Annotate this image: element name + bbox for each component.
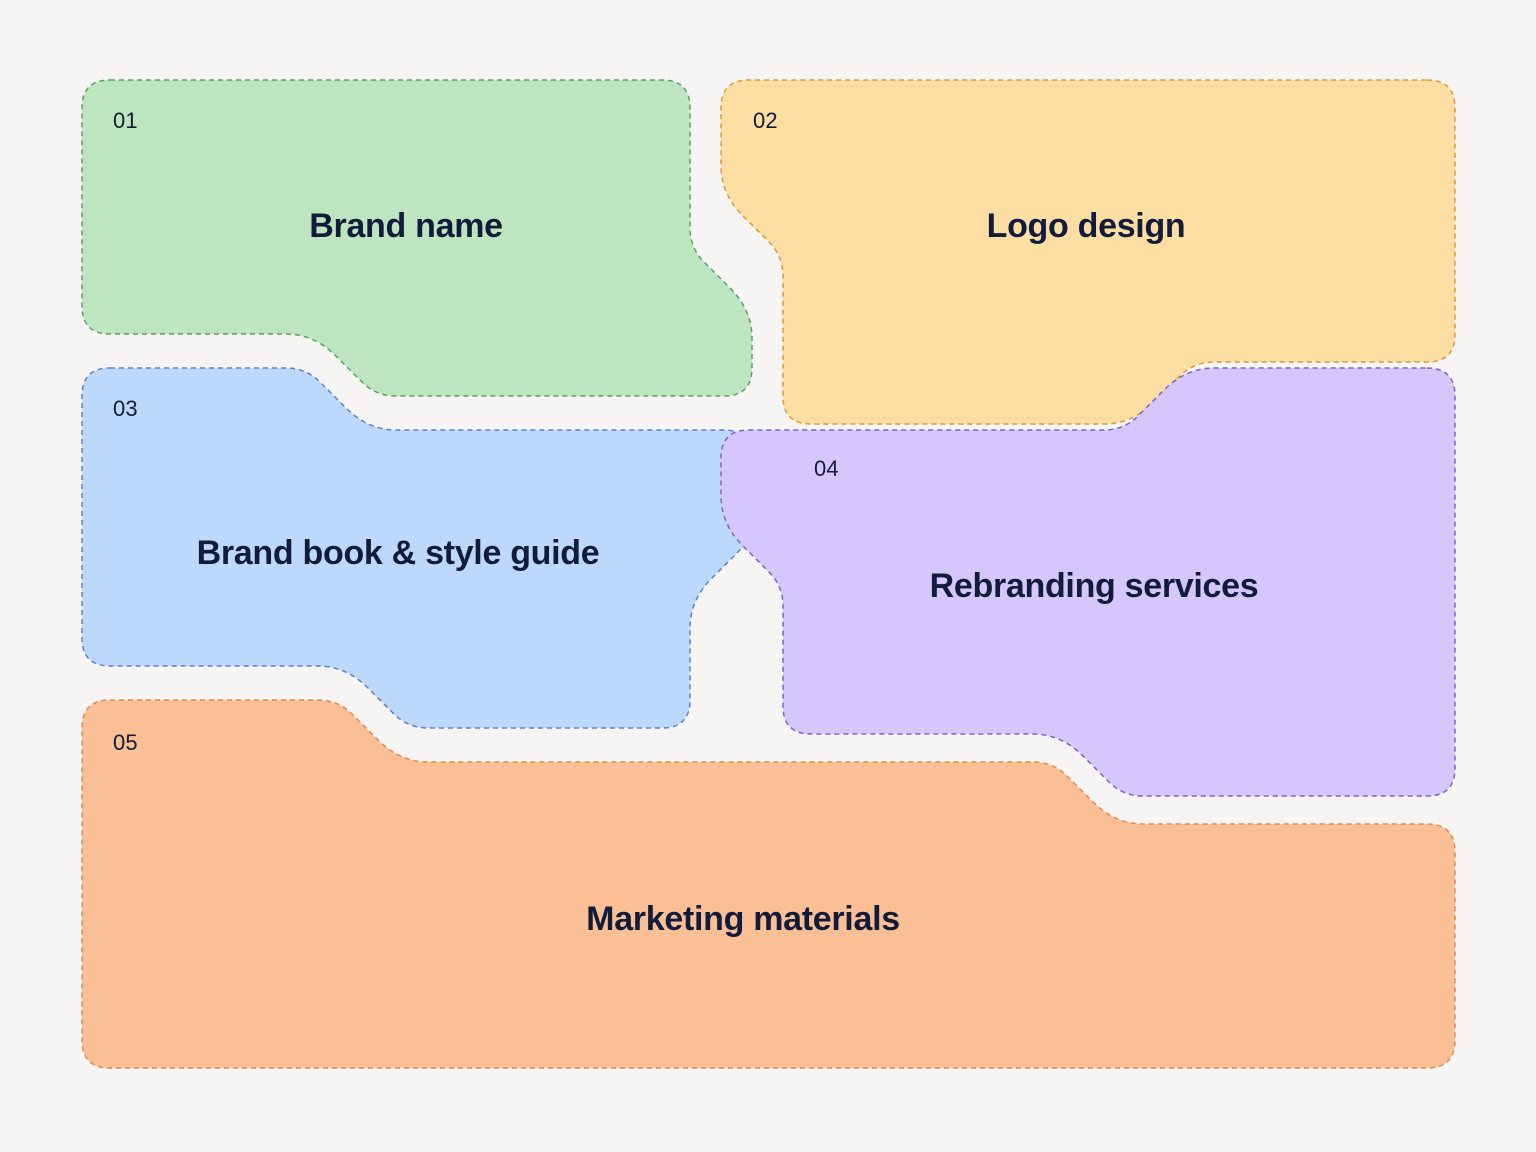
diagram-canvas: 01 Brand name 02 Logo design 03 Brand bo… xyxy=(0,0,1536,1152)
panel-shape-01[interactable] xyxy=(82,80,752,396)
diagram-shapes xyxy=(0,0,1536,1152)
panel-shape-04[interactable] xyxy=(721,368,1455,796)
panel-shape-03[interactable] xyxy=(82,368,752,728)
